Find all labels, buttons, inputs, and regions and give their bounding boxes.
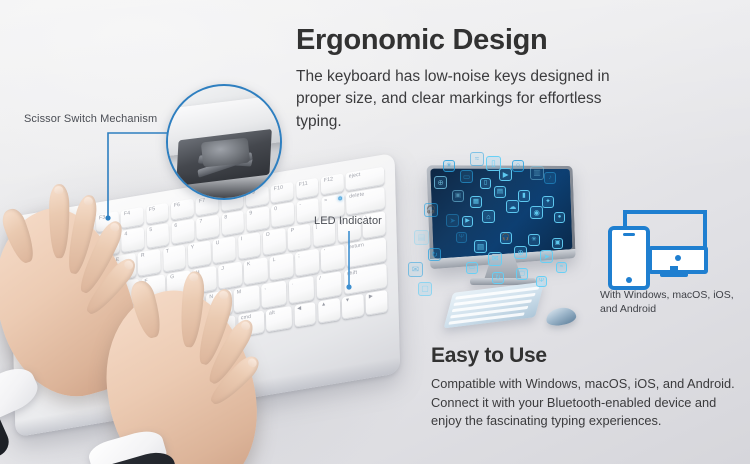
keyboard-key: ;	[295, 249, 319, 277]
keyboard-key: 9	[246, 206, 269, 231]
mobile-phone-icon: ▯	[480, 178, 491, 189]
keyboard-key: K	[244, 257, 268, 285]
user-icon: ●	[554, 212, 565, 223]
keyboard-key: 0	[271, 202, 294, 227]
callout-label-led-indicator: LED Indicator	[314, 215, 382, 227]
keyboard-key: 5	[146, 223, 169, 248]
key-legend: 6	[174, 224, 177, 230]
key-legend: L	[273, 258, 276, 264]
key-legend: alt	[269, 311, 275, 317]
keyboard-key: .	[289, 276, 315, 304]
keyboard-key: Y	[188, 240, 211, 267]
keyboard-key: J	[218, 262, 242, 290]
connector-line	[623, 210, 707, 214]
key-legend: ;	[298, 254, 300, 260]
keyboard-key: ,	[261, 280, 287, 308]
photo-icon: ▣	[452, 190, 464, 202]
headphones-icon: 🎧	[500, 232, 512, 244]
cursor-click-icon: ➤	[540, 250, 553, 263]
keyboard-key: U	[213, 236, 236, 263]
gear-icon: ✳	[528, 234, 540, 246]
key-legend: F7	[199, 199, 206, 205]
play-button-icon: ▶	[499, 168, 512, 181]
key-legend: shift	[347, 271, 358, 278]
headphones-icon: 🎧	[424, 203, 438, 217]
compatibility-device-icons	[600, 210, 720, 288]
key-legend: 9	[249, 211, 252, 217]
key-legend: T	[166, 249, 169, 255]
key-legend: return	[349, 243, 364, 251]
key-legend: ▼	[345, 298, 350, 304]
key-legend: F12	[324, 177, 334, 184]
finger	[49, 184, 69, 258]
music-player-icon: ▤	[414, 230, 429, 245]
keyboard-key: F4	[121, 207, 144, 228]
keyboard-key: R	[138, 249, 161, 276]
ergonomic-design-title: Ergonomic Design	[296, 24, 547, 57]
key-legend: ▲	[321, 302, 326, 308]
connector-line	[703, 210, 707, 250]
key-legend: ◀	[297, 306, 301, 312]
product-banner: escF1F2F3F4F5F6F7F8F9F10F11F12eject~1234…	[0, 0, 750, 464]
keyboard-key: alt	[266, 306, 292, 332]
keyboard-key: F12	[321, 174, 344, 195]
cursor-click-icon: ➤	[446, 214, 459, 227]
keyboard-key: T	[163, 245, 186, 272]
photo-icon: ▣	[552, 238, 563, 249]
keyboard-key: /	[316, 271, 342, 299]
keyboard-key: L	[270, 253, 294, 281]
tablet-icon: ▤	[494, 186, 506, 198]
key-legend: G	[170, 275, 174, 281]
wifi-icon: ≈	[470, 152, 484, 166]
cloud-icon: ☁	[506, 200, 519, 213]
key-legend: P	[291, 228, 295, 234]
monitor-icon: ▢	[516, 268, 528, 280]
music-player-icon: ▤	[474, 240, 487, 253]
keyboard-key: I	[238, 232, 261, 259]
key-legend: F4	[124, 211, 131, 217]
globe-icon: ⊕	[514, 246, 527, 259]
wireless-mouse	[545, 306, 577, 328]
key-legend: 5	[149, 228, 152, 234]
key-legend: eject	[349, 173, 361, 180]
key-legend: '	[324, 250, 325, 255]
refresh-icon: ↻	[492, 272, 504, 284]
keyboard-key: ▲	[318, 298, 340, 323]
key-legend: .	[292, 281, 294, 287]
keyboard-key: 7	[196, 215, 219, 240]
key-legend: /	[319, 277, 321, 283]
key-legend: 0	[274, 207, 277, 213]
wifi-icon: ≈	[556, 262, 567, 273]
easy-to-use-title: Easy to Use	[431, 344, 547, 368]
key-legend: F5	[149, 207, 156, 213]
monitor-stand-icon	[660, 270, 688, 277]
keyboard-key: ▶	[366, 290, 388, 315]
antenna-tower-icon: Ψ	[456, 232, 467, 243]
key-legend: ▶	[369, 294, 373, 300]
lock-icon: ▮	[518, 190, 530, 202]
key-legend: -	[299, 203, 301, 209]
desktop-wireless-keyboard	[444, 282, 545, 329]
key-legend: O	[266, 232, 270, 238]
keyboard-key: 8	[221, 210, 244, 235]
switch-center-dome	[200, 137, 249, 166]
keyboard-key: F5	[146, 203, 169, 224]
key-legend: 7	[199, 219, 202, 225]
key-legend: 8	[224, 215, 227, 221]
refresh-icon: ↻	[428, 248, 441, 261]
key-legend: F6	[174, 203, 181, 209]
key-legend: U	[216, 241, 220, 247]
search-icon: ○	[512, 160, 524, 172]
calendar-icon: ▦	[470, 196, 482, 208]
keyboard-key: F11	[296, 178, 319, 199]
smartphone-icon	[608, 226, 650, 290]
callout-label-scissor-switch: Scissor Switch Mechanism	[24, 113, 157, 125]
keyboard-key: 6	[171, 219, 194, 244]
scissor-switch-closeup-inset	[166, 84, 282, 200]
globe-icon: ⊕	[434, 176, 447, 189]
keyboard-key: P	[288, 224, 311, 251]
keyboard-key: O	[263, 228, 286, 255]
antenna-tower-icon: Ψ	[536, 276, 547, 287]
envelope-icon: ✉	[488, 252, 502, 266]
microphone-icon: ♪	[544, 172, 556, 184]
ergonomic-design-body: The keyboard has low-noise keys designed…	[296, 66, 636, 133]
keyboard-key: ◀	[294, 302, 316, 327]
video-icon: ▥	[530, 166, 544, 180]
key-legend: Y	[191, 245, 195, 251]
star-icon: ✦	[542, 196, 554, 208]
gear-icon: ✳	[443, 160, 455, 172]
compatibility-caption: With Windows, macOS, iOS, and Android	[600, 288, 750, 316]
camera-icon: ◉	[530, 206, 543, 219]
keyboard-key: F6	[171, 199, 194, 220]
key-legend: 4	[124, 232, 127, 238]
key-legend: ,	[264, 286, 266, 292]
key-legend: delete	[349, 192, 364, 200]
chat-bubble-icon: ▭	[460, 170, 473, 183]
monitor-icon: ▢	[418, 282, 432, 296]
key-legend: =	[324, 198, 327, 204]
keyboard-key: ▼	[342, 294, 364, 319]
key-legend: R	[141, 253, 145, 259]
key-legend: I	[241, 237, 243, 243]
easy-to-use-body: Compatible with Windows, macOS, iOS, and…	[431, 375, 741, 431]
key-legend: K	[247, 262, 251, 268]
keyboard-key: '	[321, 244, 345, 272]
key-legend: J	[221, 266, 224, 272]
play-button-icon: ▶	[462, 216, 473, 227]
key-legend: F3	[99, 215, 106, 221]
chat-bubble-icon: ▭	[466, 262, 478, 274]
inset-shading	[168, 173, 280, 198]
envelope-icon: ✉	[408, 262, 423, 277]
keyboard-key: M	[234, 285, 260, 313]
key-legend: F11	[299, 181, 308, 188]
keyboard-key: delete	[346, 187, 385, 215]
keyboard-key: return	[346, 237, 386, 267]
thumb	[0, 206, 39, 266]
keyboard-key: 4	[121, 227, 144, 252]
home-icon: ⌂	[482, 210, 495, 223]
key-legend: M	[237, 290, 242, 296]
